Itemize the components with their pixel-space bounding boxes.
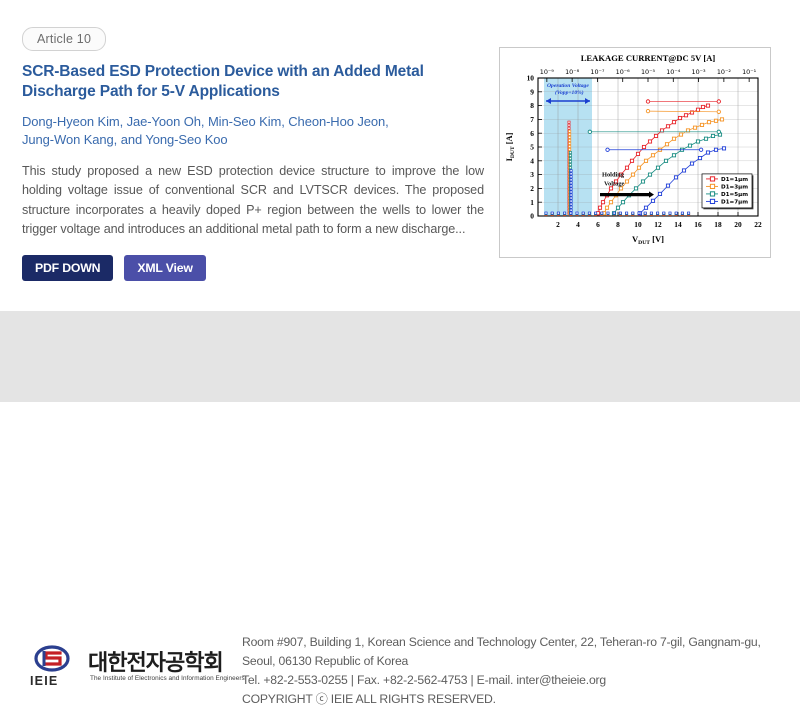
svg-text:0: 0 (530, 212, 534, 221)
ieie-wordmark: IEIE (30, 674, 58, 688)
svg-text:10⁻⁵: 10⁻⁵ (641, 68, 656, 76)
footer-contact-line: Tel. +82-2-553-0255 | Fax. +82-2-562-475… (242, 671, 782, 690)
article-action-buttons: PDF DOWN XML View (22, 255, 206, 281)
svg-text:1: 1 (530, 198, 534, 207)
svg-text:20: 20 (734, 220, 742, 229)
article-title[interactable]: SCR-Based ESD Protection Device with an … (22, 62, 484, 103)
article-abstract: This study proposed a new ESD protection… (22, 162, 484, 240)
ieie-subtitle: The Institute of Electronics and Informa… (90, 675, 245, 682)
svg-text:7: 7 (530, 115, 534, 124)
svg-text:10: 10 (527, 74, 535, 83)
footer-address-line-1: Room #907, Building 1, Korean Science an… (242, 633, 782, 652)
legend-label-2: D1=5μm (721, 192, 748, 198)
svg-text:10⁻⁷: 10⁻⁷ (590, 68, 605, 76)
svg-text:18: 18 (714, 220, 722, 229)
svg-text:6: 6 (530, 129, 534, 138)
chart-title: LEAKAGE CURRENT@DC 5V [A] (581, 53, 716, 63)
svg-text:10⁻⁶: 10⁻⁶ (616, 68, 631, 76)
svg-text:16: 16 (694, 220, 702, 229)
footer-copyright: COPYRIGHT ⓒ IEIE ALL RIGHTS RESERVED. (242, 690, 782, 709)
svg-text:5: 5 (530, 143, 534, 152)
svg-text:12: 12 (654, 220, 662, 229)
y-axis-label: IDUT [A] (505, 132, 516, 161)
legend-label-0: D1=1μm (721, 177, 748, 183)
svg-text:4: 4 (530, 156, 534, 165)
article-authors: Dong-Hyeon Kim, Jae-Yoon Oh, Min-Seo Kim… (22, 113, 484, 149)
article-body: SCR-Based ESD Protection Device with an … (22, 62, 484, 240)
ieie-logo-mark (30, 644, 76, 674)
svg-text:4: 4 (576, 220, 580, 229)
svg-text:9: 9 (530, 87, 534, 96)
authors-line-2: Jung-Won Kang, and Yong-Seo Koo (22, 132, 228, 147)
article-card: Article 10 SCR-Based ESD Protection Devi… (0, 0, 800, 310)
svg-text:6: 6 (596, 220, 600, 229)
svg-text:8: 8 (530, 101, 534, 110)
ieie-korean-name: 대한전자공학회 (88, 645, 223, 677)
svg-text:10: 10 (634, 220, 642, 229)
svg-text:10⁻¹: 10⁻¹ (742, 68, 757, 76)
leakage-current-chart: 10⁻⁹10⁻⁸10⁻⁷10⁻⁶10⁻⁵10⁻⁴10⁻³10⁻²10⁻¹LEAK… (500, 48, 770, 257)
site-footer: IEIE 대한전자공학회 The Institute of Electronic… (0, 311, 800, 402)
article-number-badge: Article 10 (22, 27, 106, 51)
svg-text:10⁻²: 10⁻² (717, 68, 732, 76)
svg-text:22: 22 (754, 220, 762, 229)
svg-text:10⁻⁸: 10⁻⁸ (565, 68, 580, 76)
operation-voltage-annotation: Operation Voltage (547, 83, 589, 89)
x-axis-label: VDUT [V] (632, 234, 664, 246)
legend-label-1: D1=3μm (721, 184, 748, 190)
footer-contact-info: Room #907, Building 1, Korean Science an… (242, 633, 782, 709)
authors-line-1: Dong-Hyeon Kim, Jae-Yoon Oh, Min-Seo Kim… (22, 114, 389, 129)
legend-label-3: D1=7μm (721, 199, 748, 205)
svg-text:(Vopp+10%): (Vopp+10%) (555, 89, 584, 96)
svg-text:14: 14 (674, 220, 682, 229)
svg-text:2: 2 (556, 220, 560, 229)
svg-text:Voltage: Voltage (604, 181, 625, 188)
footer-logo[interactable]: IEIE 대한전자공학회 The Institute of Electronic… (30, 644, 216, 690)
svg-text:3: 3 (530, 170, 534, 179)
xml-view-button[interactable]: XML View (124, 255, 205, 281)
svg-text:10⁻³: 10⁻³ (692, 68, 707, 76)
footer-address-line-2: Seoul, 06130 Republic of Korea (242, 652, 782, 671)
article-figure[interactable]: 10⁻⁹10⁻⁸10⁻⁷10⁻⁶10⁻⁵10⁻⁴10⁻³10⁻²10⁻¹LEAK… (499, 47, 771, 258)
pdf-download-button[interactable]: PDF DOWN (22, 255, 113, 281)
svg-text:8: 8 (616, 220, 620, 229)
svg-text:10⁻⁹: 10⁻⁹ (540, 68, 555, 76)
svg-text:10⁻⁴: 10⁻⁴ (666, 68, 681, 76)
holding-voltage-annotation: Holding (602, 172, 625, 179)
svg-text:2: 2 (530, 184, 534, 193)
